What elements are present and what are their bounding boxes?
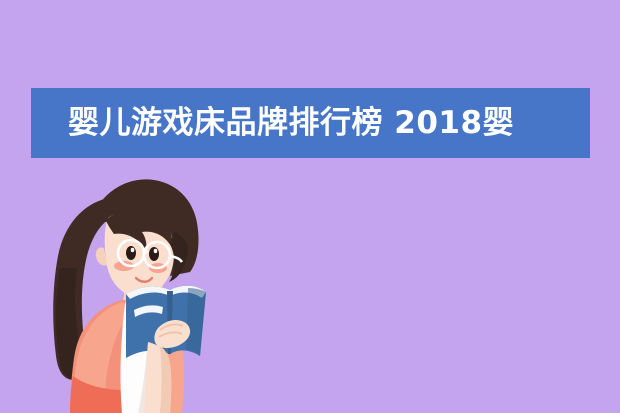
eye-left — [126, 246, 136, 260]
glasses-icon — [118, 240, 182, 268]
skirt-shape — [70, 356, 180, 413]
shirt-shape — [121, 300, 164, 413]
eye-right — [149, 247, 159, 261]
blush-right — [149, 263, 167, 273]
page-title: 婴儿游戏床品牌排行榜 2018婴 — [68, 108, 514, 139]
article-thumbnail-card: 婴儿游戏床品牌排行榜 2018婴 — [0, 0, 620, 413]
neck-shape — [122, 278, 164, 312]
blush-left — [114, 261, 134, 271]
mouth — [136, 278, 152, 282]
open-book-shape — [126, 286, 206, 358]
title-banner: 婴儿游戏床品牌排行榜 2018婴 — [31, 88, 590, 158]
hand-shape — [144, 320, 190, 413]
head-shape — [94, 179, 199, 297]
woman-reading-book-illustration — [30, 160, 250, 413]
cardigan-shape — [70, 300, 184, 413]
hair-back-shape — [53, 198, 126, 380]
